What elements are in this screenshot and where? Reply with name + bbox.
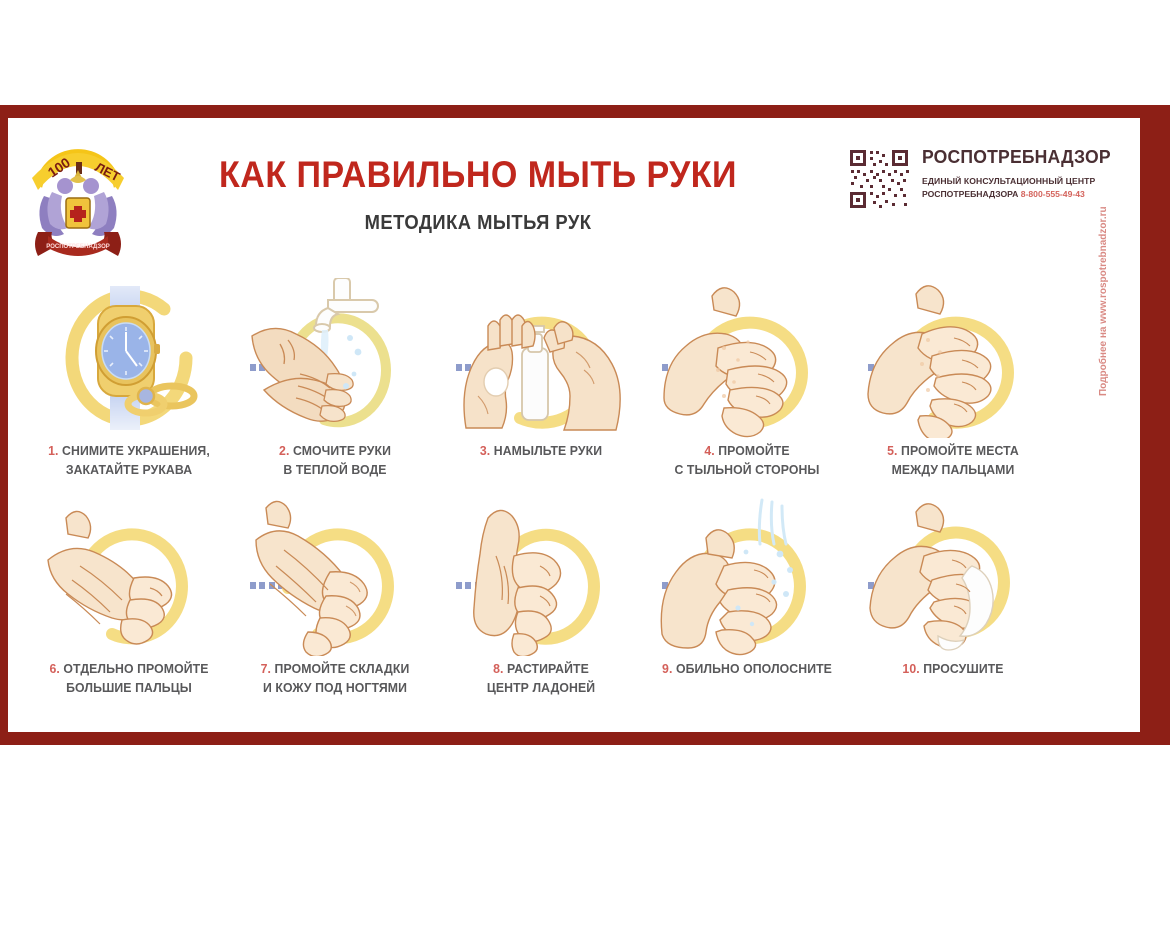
step-2-caption: 2. СМОЧИТЕ РУКИ В ТЕПЛОЙ ВОДЕ xyxy=(235,441,434,479)
rinse-with-water-icon xyxy=(654,496,840,656)
steps-row-2: 6. ОТДЕЛЬНО ПРОМОЙТЕ БОЛЬШИЕ ПАЛЬЦЫ xyxy=(8,496,1140,716)
title-block: КАК ПРАВИЛЬНО МЫТЬ РУКИ МЕТОДИКА МЫТЬЯ Р… xyxy=(168,156,788,235)
page-subtitle: МЕТОДИКА МЫТЬЯ РУК xyxy=(193,212,763,235)
step-5-caption: 5. ПРОМОЙТЕ МЕСТА МЕЖДУ ПАЛЬЦАМИ xyxy=(853,441,1052,479)
interlaced-fingers-icon xyxy=(860,278,1046,438)
palm-center-rub-icon xyxy=(448,496,634,656)
step-3-number: 3. xyxy=(480,443,490,458)
step-9-number: 9. xyxy=(662,661,672,676)
step-5-number: 5. xyxy=(887,443,897,458)
watch-and-rings-icon xyxy=(36,278,222,438)
step-10: 10. ПРОСУШИТЕ xyxy=(860,496,1046,716)
step-1: 1. СНИМИТЕ УКРАШЕНИЯ, ЗАКАТАЙТЕ РУКАВА xyxy=(36,278,222,498)
step-6-caption: 6. ОТДЕЛЬНО ПРОМОЙТЕ БОЛЬШИЕ ПАЛЬЦЫ xyxy=(29,659,228,697)
step-5-line1: ПРОМОЙТЕ МЕСТА xyxy=(901,443,1019,458)
step-3-line1: НАМЫЛЬТЕ РУКИ xyxy=(494,443,602,458)
step-4-caption: 4. ПРОМОЙТЕ С ТЫЛЬНОЙ СТОРОНЫ xyxy=(647,441,846,479)
step-2-line2: В ТЕПЛОЙ ВОДЕ xyxy=(283,462,386,477)
step-6: 6. ОТДЕЛЬНО ПРОМОЙТЕ БОЛЬШИЕ ПАЛЬЦЫ xyxy=(36,496,222,716)
agency-name: РОСПОТРЕБНАДЗОР xyxy=(922,146,1127,168)
steps-row-1: 1. СНИМИТЕ УКРАШЕНИЯ, ЗАКАТАЙТЕ РУКАВА xyxy=(8,278,1140,498)
soap-dispenser-icon xyxy=(448,278,634,438)
step-8-number: 8. xyxy=(493,661,503,676)
step-3-caption: 3. НАМЫЛЬТЕ РУКИ xyxy=(441,441,640,460)
step-7-line2: И КОЖУ ПОД НОГТЯМИ xyxy=(263,680,407,695)
step-8-line1: РАСТИРАЙТЕ xyxy=(507,661,589,676)
rospotrebnadzor-emblem-icon: 100 ЛЕТ xyxy=(22,136,134,264)
palm-over-back-of-hand-icon xyxy=(654,278,840,438)
step-4-line1: ПРОМОЙТЕ xyxy=(718,443,789,458)
step-5-line2: МЕЖДУ ПАЛЬЦАМИ xyxy=(892,462,1015,477)
step-7-caption: 7. ПРОМОЙТЕ СКЛАДКИ И КОЖУ ПОД НОГТЯМИ xyxy=(235,659,434,697)
step-2-line1: СМОЧИТЕ РУКИ xyxy=(293,443,391,458)
step-3: 3. НАМЫЛЬТЕ РУКИ xyxy=(448,278,634,498)
qr-code-icon[interactable] xyxy=(848,148,910,210)
step-9-line1: ОБИЛЬНО ОПОЛОСНИТЕ xyxy=(676,661,832,676)
step-2-number: 2. xyxy=(279,443,289,458)
step-1-number: 1. xyxy=(48,443,58,458)
step-5: 5. ПРОМОЙТЕ МЕСТА МЕЖДУ ПАЛЬЦАМИ xyxy=(860,278,1046,498)
step-8-line2: ЦЕНТР ЛАДОНЕЙ xyxy=(487,680,595,695)
step-9: 9. ОБИЛЬНО ОПОЛОСНИТЕ xyxy=(654,496,840,716)
poster-canvas: 100 ЛЕТ xyxy=(0,0,1170,937)
step-9-caption: 9. ОБИЛЬНО ОПОЛОСНИТЕ xyxy=(647,659,846,678)
step-10-caption: 10. ПРОСУШИТЕ xyxy=(853,659,1052,678)
step-4-number: 4. xyxy=(704,443,714,458)
agency-phone-label: РОСПОТРЕБНАДЗОРА xyxy=(922,189,1018,199)
step-7: 7. ПРОМОЙТЕ СКЛАДКИ И КОЖУ ПОД НОГТЯМИ xyxy=(242,496,428,716)
agency-phone-number[interactable]: 8-800-555-49-43 xyxy=(1021,189,1085,199)
hands-under-faucet-icon xyxy=(242,278,428,438)
step-1-line1: СНИМИТЕ УКРАШЕНИЯ, xyxy=(62,443,210,458)
step-10-line1: ПРОСУШИТЕ xyxy=(923,661,1003,676)
step-4: 4. ПРОМОЙТЕ С ТЫЛЬНОЙ СТОРОНЫ xyxy=(654,278,840,498)
website-sidenote: Подробнее на www.rospotrebnadzor.ru xyxy=(1098,146,1109,396)
svg-text:РОСПОТРЕБНАДЗОР: РОСПОТРЕБНАДЗОР xyxy=(46,244,109,250)
step-6-line2: БОЛЬШИЕ ПАЛЬЦЫ xyxy=(66,680,192,695)
poster-content: 100 ЛЕТ xyxy=(8,118,1140,732)
step-4-line2: С ТЫЛЬНОЙ СТОРОНЫ xyxy=(674,462,819,477)
agency-block: РОСПОТРЕБНАДЗОР ЕДИНЫЙ КОНСУЛЬТАЦИОННЫЙ … xyxy=(848,146,1138,232)
step-7-number: 7. xyxy=(261,661,271,676)
page-title: КАК ПРАВИЛЬНО МЫТЬ РУКИ xyxy=(193,156,763,193)
poster-frame: 100 ЛЕТ xyxy=(0,105,1170,745)
step-1-line2: ЗАКАТАЙТЕ РУКАВА xyxy=(66,462,192,477)
step-10-number: 10. xyxy=(902,661,919,676)
step-8-caption: 8. РАСТИРАЙТЕ ЦЕНТР ЛАДОНЕЙ xyxy=(441,659,640,697)
step-2: 2. СМОЧИТЕ РУКИ В ТЕПЛОЙ ВОДЕ xyxy=(242,278,428,498)
dry-with-towel-icon xyxy=(860,496,1046,656)
step-6-line1: ОТДЕЛЬНО ПРОМОЙТЕ xyxy=(63,661,208,676)
step-7-line1: ПРОМОЙТЕ СКЛАДКИ xyxy=(275,661,410,676)
step-1-caption: 1. СНИМИТЕ УКРАШЕНИЯ, ЗАКАТАЙТЕ РУКАВА xyxy=(29,441,228,479)
poster-header: 100 ЛЕТ xyxy=(8,118,1140,278)
nails-on-palm-icon xyxy=(242,496,428,656)
step-8: 8. РАСТИРАЙТЕ ЦЕНТР ЛАДОНЕЙ xyxy=(448,496,634,716)
step-6-number: 6. xyxy=(49,661,59,676)
thumb-scrub-icon xyxy=(36,496,222,656)
